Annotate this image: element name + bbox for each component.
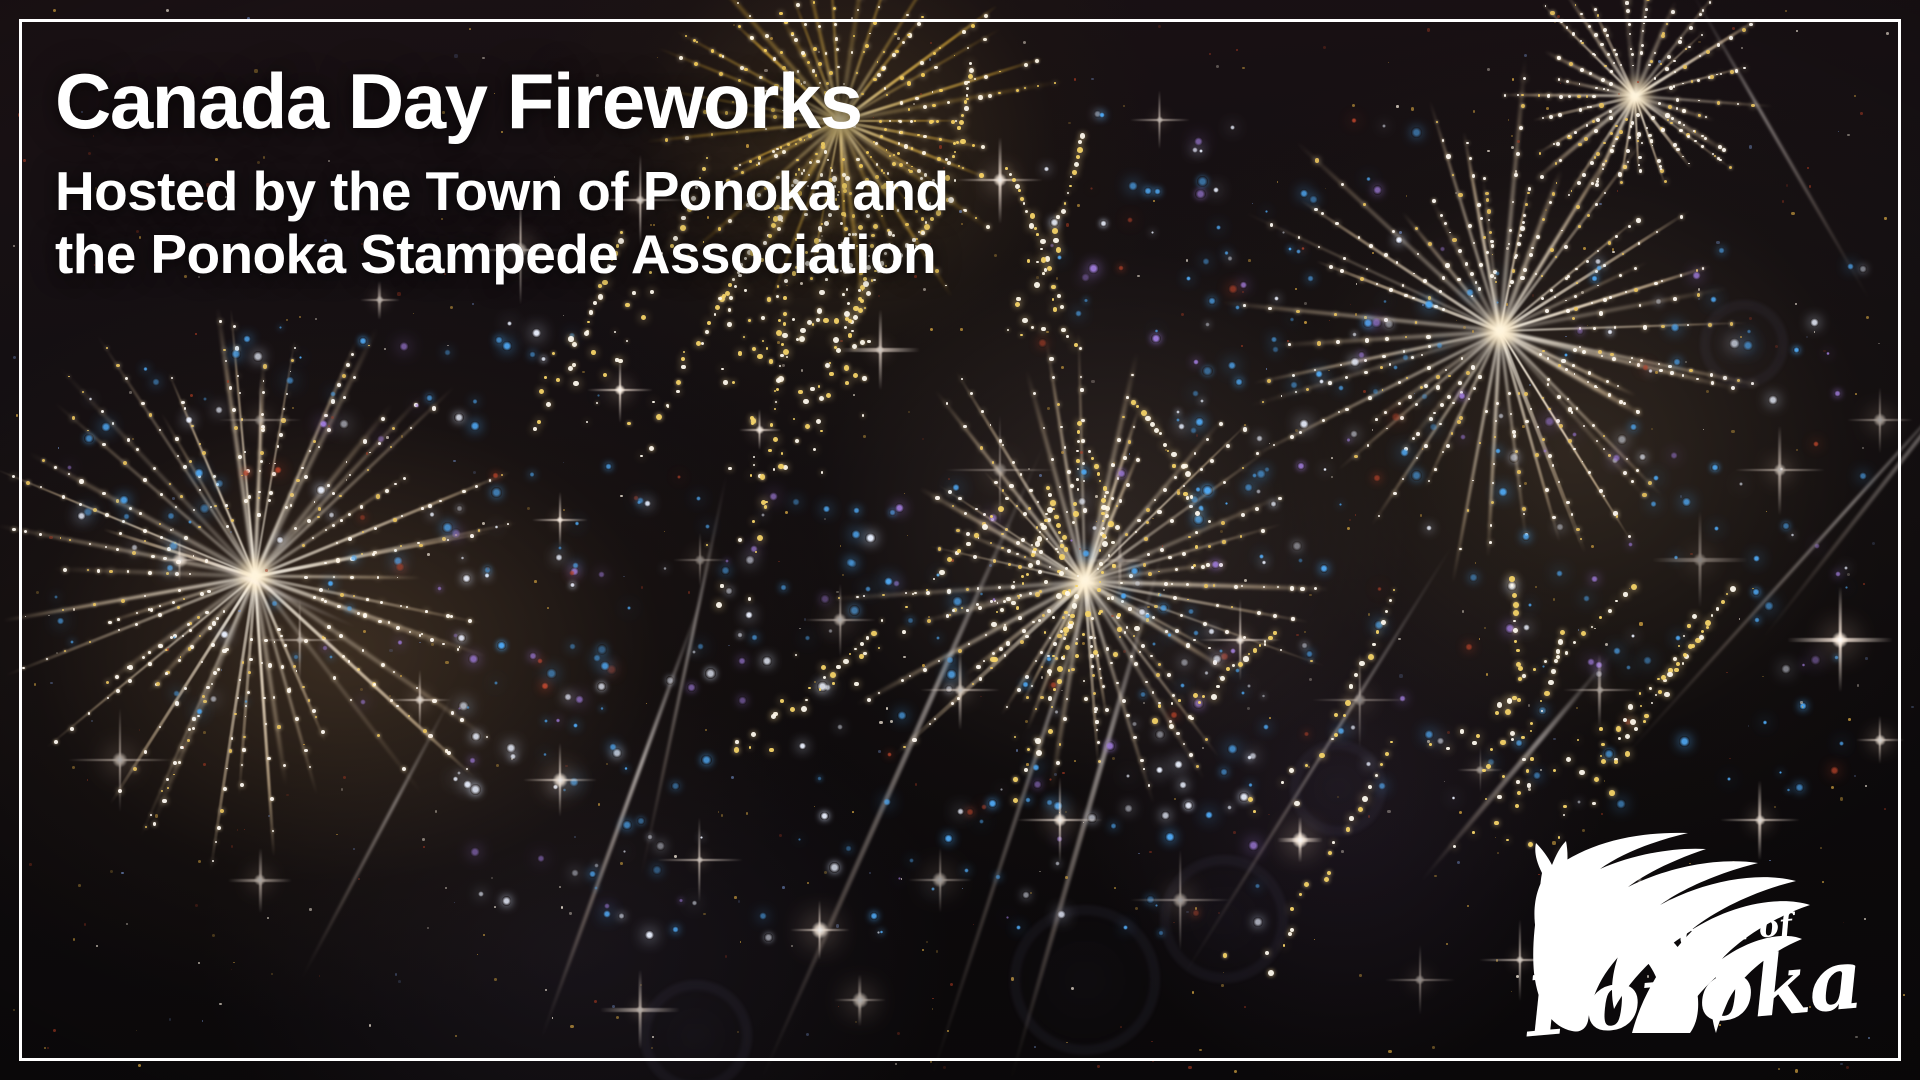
town-of-ponoka-logo: Town of Ponoka bbox=[1482, 819, 1872, 1034]
subtitle-line-1: Hosted by the Town of Ponoka and bbox=[55, 160, 1255, 223]
horse-head-icon bbox=[1533, 833, 1810, 1033]
poster-copy-block: Canada Day Fireworks Hosted by the Town … bbox=[55, 62, 1255, 285]
poster-canvas: Canada Day Fireworks Hosted by the Town … bbox=[0, 0, 1920, 1080]
subtitle-line-2: the Ponoka Stampede Association bbox=[55, 223, 1255, 286]
page-title: Canada Day Fireworks bbox=[55, 62, 1255, 140]
poster-subtitle: Hosted by the Town of Ponoka and the Pon… bbox=[55, 160, 1255, 285]
